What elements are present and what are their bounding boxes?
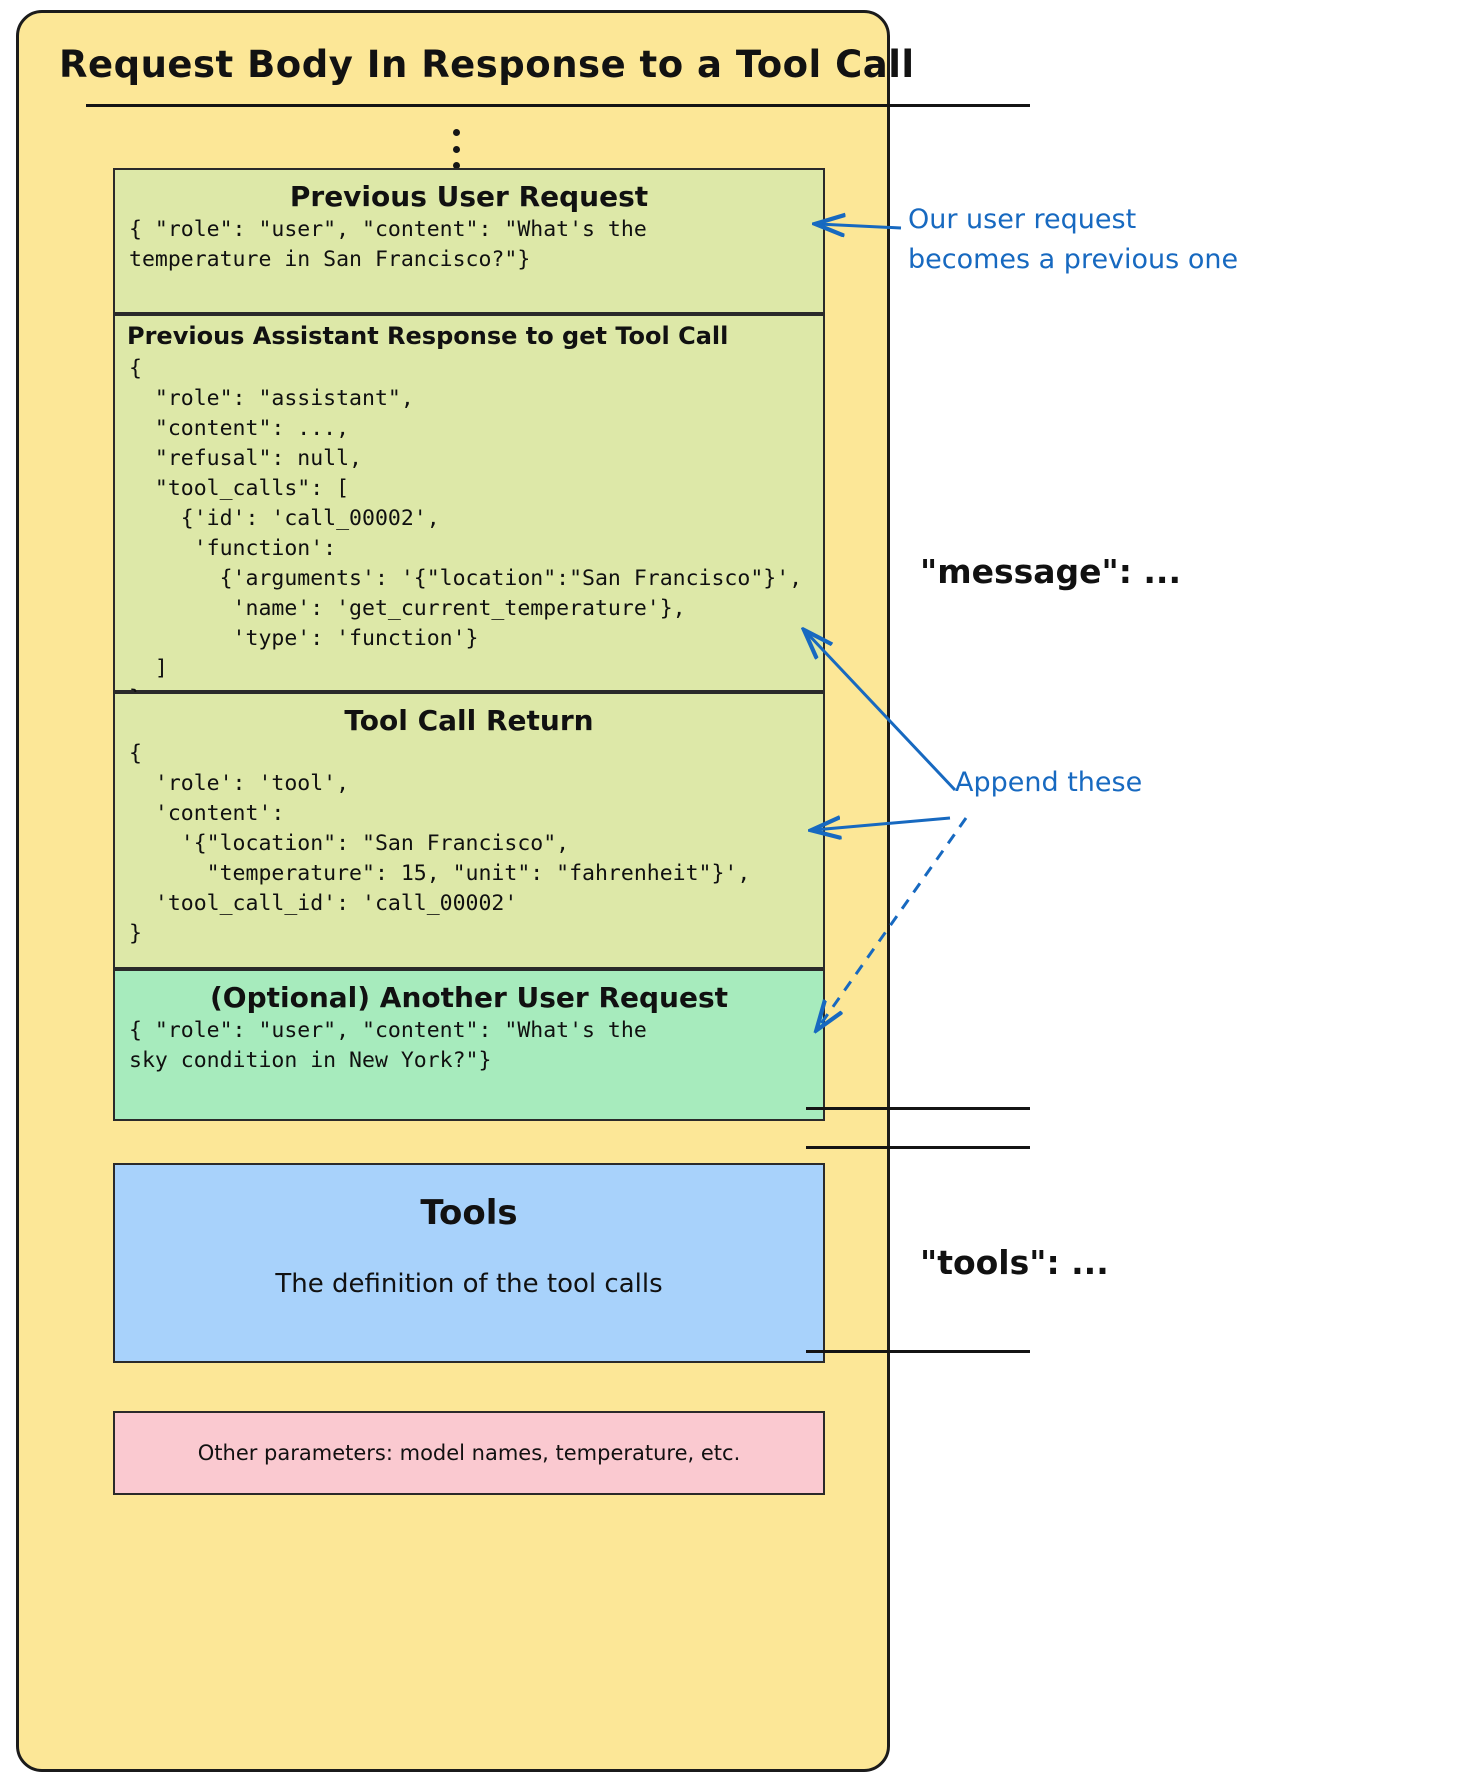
request-body-card: Request Body In Response to a Tool Call … <box>16 10 890 1772</box>
previous-user-request-heading: Previous User Request <box>115 170 823 213</box>
optional-user-request-box: (Optional) Another User Request { "role"… <box>113 969 825 1121</box>
tool-call-return-code: { 'role': 'tool', 'content': '{"location… <box>115 737 823 957</box>
diagram-title: Request Body In Response to a Tool Call <box>59 43 889 86</box>
ellipsis-dot <box>453 146 460 153</box>
previous-assistant-response-heading: Previous Assistant Response to get Tool … <box>115 316 823 352</box>
tools-bracket-bottom-line <box>806 1350 1030 1353</box>
append-these-annotation: Append these <box>955 763 1142 803</box>
other-parameters-box: Other parameters: model names, temperatu… <box>113 1411 825 1495</box>
optional-user-request-code: { "role": "user", "content": "What's the… <box>115 1014 823 1084</box>
message-bracket-bottom-line <box>806 1107 1030 1110</box>
tools-key-label: "tools": ... <box>920 1243 1109 1282</box>
vertical-ellipsis-icon <box>449 129 463 169</box>
tools-bracket-top-line <box>806 1146 1030 1149</box>
user-request-annotation: Our user request becomes a previous one <box>908 200 1238 280</box>
tool-call-return-heading: Tool Call Return <box>115 694 823 737</box>
previous-assistant-response-code: { "role": "assistant", "content": ..., "… <box>115 352 823 722</box>
message-bracket-top-line <box>86 104 1030 107</box>
previous-assistant-response-box: Previous Assistant Response to get Tool … <box>113 314 825 692</box>
tools-heading: Tools <box>115 1165 823 1233</box>
optional-user-request-heading: (Optional) Another User Request <box>115 971 823 1014</box>
message-key-label: "message": ... <box>920 552 1181 591</box>
tool-call-return-box: Tool Call Return { 'role': 'tool', 'cont… <box>113 692 825 969</box>
tools-box: Tools The definition of the tool calls <box>113 1163 825 1363</box>
previous-user-request-code: { "role": "user", "content": "What's the… <box>115 213 823 283</box>
other-parameters-text: Other parameters: model names, temperatu… <box>198 1441 741 1465</box>
previous-user-request-box: Previous User Request { "role": "user", … <box>113 168 825 314</box>
ellipsis-dot <box>453 129 460 136</box>
tools-subtitle: The definition of the tool calls <box>115 1233 823 1299</box>
